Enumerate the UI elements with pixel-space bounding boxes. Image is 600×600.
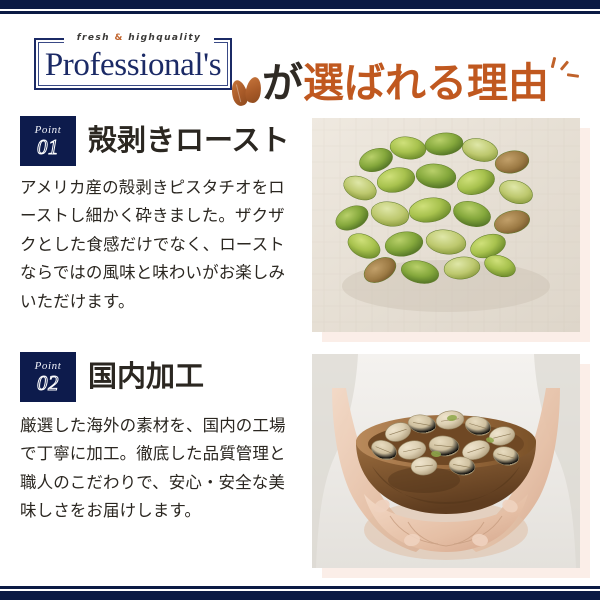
headline-lead: が — [262, 63, 303, 104]
photo-frame-02 — [312, 354, 580, 568]
photo-frame-01 — [312, 118, 580, 332]
point-body-02: 厳選した海外の素材を、国内の工場で丁寧に加工。徹底した品質管理と職人のこだわりで… — [20, 412, 298, 526]
sparkle-marks-icon — [543, 55, 583, 83]
point-block-02: Point 02 国内加工 厳選した海外の素材を、国内の工場で丁寧に加工。徹底し… — [0, 348, 600, 580]
point-badge-01: Point 01 — [20, 116, 76, 166]
tagline-pre: fresh — [77, 33, 110, 43]
point-badge-number: 02 — [37, 373, 59, 394]
promo-page: fresh & highquality Professional's が選ばれる… — [0, 0, 600, 600]
point-body-01: アメリカ産の殻剥きピスタチオをローストし細かく砕きました。ザクザクとした食感だけ… — [20, 174, 298, 316]
sparkle-stroke-1 — [551, 57, 556, 68]
bottom-border-thick — [0, 591, 600, 600]
top-border-rule — [0, 0, 600, 15]
sparkle-stroke-3 — [567, 73, 579, 77]
point-badge-word: Point — [35, 361, 62, 372]
sparkle-stroke-2 — [560, 60, 569, 70]
top-border-thin — [0, 11, 600, 14]
hands-bowl-pistachios-photo — [312, 354, 580, 568]
header: fresh & highquality Professional's が選ばれる… — [0, 22, 600, 108]
point-block-01: Point 01 殻剥きロースト アメリカ産の殻剥きピスタチオをローストし細かく… — [0, 112, 600, 344]
point-badge-word: Point — [35, 125, 62, 136]
brand-logo: fresh & highquality Professional's — [34, 30, 234, 92]
shelled-pistachio-kernels-photo — [312, 118, 580, 332]
point-badge-02: Point 02 — [20, 352, 76, 402]
bottom-border-rule — [0, 585, 600, 600]
tagline-ampersand: & — [114, 33, 123, 43]
point-photo-01 — [312, 118, 580, 336]
brand-tagline: fresh & highquality — [64, 30, 214, 47]
bottom-border-thin — [0, 586, 600, 589]
point-photo-02 — [312, 354, 580, 572]
nut-shape-right — [244, 76, 263, 104]
tagline-post: highquality — [128, 33, 201, 43]
headline-rest: 選ばれる理由 — [303, 63, 549, 104]
nut-seam — [236, 84, 241, 102]
brand-wordmark: Professional's — [34, 40, 232, 90]
point-title-02: 国内加工 — [88, 350, 303, 402]
point-title-01: 殻剥きロースト — [88, 114, 303, 166]
top-border-thick — [0, 0, 600, 9]
point-badge-number: 01 — [37, 137, 59, 158]
